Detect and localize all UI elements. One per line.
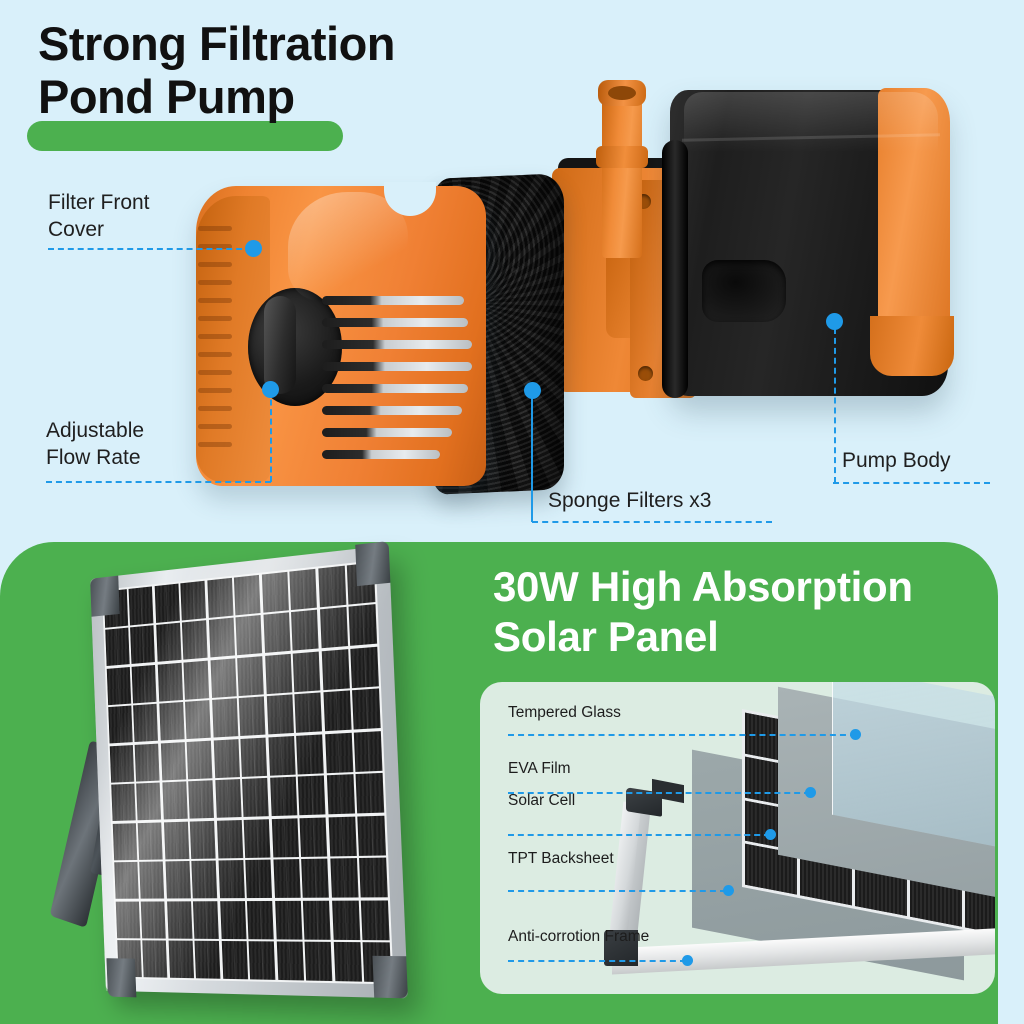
filter-cover-ridges [198, 226, 232, 466]
solar-cell [135, 743, 160, 781]
solar-cell [218, 860, 244, 898]
solar-cell [220, 901, 246, 939]
label-tpt-backsheet: TPT Backsheet [508, 850, 614, 868]
solar-cell [270, 777, 297, 816]
label-pump-body: Pump Body [842, 448, 951, 475]
label-filter-front-cover: Filter Front Cover [48, 190, 150, 244]
solar-cell [289, 569, 317, 610]
solar-cell [162, 782, 187, 820]
solar-cell [137, 783, 162, 821]
frame-corner-bottom-left [106, 958, 136, 997]
solar-cell [300, 817, 328, 856]
solar-cell [236, 615, 263, 655]
solar-cell-grid [102, 560, 394, 984]
marker-sponge-filters [524, 382, 541, 399]
solar-cell [113, 823, 138, 860]
solar-cell [332, 900, 360, 939]
solar-cell [140, 862, 165, 899]
solar-cell [276, 941, 303, 980]
solar-cell [268, 736, 295, 776]
solar-cell [164, 821, 189, 859]
frame-corner-top-left [90, 576, 120, 617]
solar-cell [305, 942, 333, 981]
solar-cell [210, 658, 236, 698]
marker-eva-film [805, 787, 816, 798]
solar-cell [234, 575, 261, 615]
solar-cell [133, 704, 158, 742]
headline-highlight-bar [27, 121, 343, 151]
solar-cell [167, 901, 192, 938]
leader-sponge-filters-h [532, 521, 772, 523]
solar-cell [116, 901, 141, 938]
solar-cell [321, 649, 349, 690]
pump-body-part [552, 84, 972, 414]
marker-adjustable-flow-rate [262, 381, 279, 398]
solar-panel-frame [90, 545, 408, 998]
solar-cell [303, 900, 331, 939]
label-anti-corrosion-frame: Anti-corrotion Frame [508, 928, 649, 946]
solar-panel-product-image [63, 562, 409, 1002]
solar-cell [242, 778, 269, 817]
pump-orange-bottom-band [870, 316, 954, 376]
solar-cell [129, 586, 154, 625]
solar-cell [161, 742, 186, 780]
solar-cell [239, 697, 266, 737]
solar-cell [275, 900, 302, 939]
solar-section-title: 30W High Absorption Solar Panel [493, 562, 913, 661]
solar-cell [187, 740, 213, 779]
solar-cell [111, 784, 135, 821]
solar-cell [352, 689, 381, 730]
solar-cell [262, 572, 289, 613]
solar-cell [267, 695, 294, 735]
solar-cell [293, 651, 321, 692]
solar-cell [188, 780, 214, 818]
solar-cell [296, 734, 324, 774]
label-adjustable-flow-rate: Adjustable Flow Rate [46, 418, 144, 472]
leader-anti-corrosion-frame [508, 960, 686, 962]
flow-dial-knob [264, 296, 296, 394]
solar-cell [265, 654, 292, 694]
solar-cell [181, 581, 207, 621]
solar-cell [105, 628, 129, 666]
leader-pump-body-v [834, 328, 836, 483]
solar-cell [357, 815, 386, 855]
solar-cell [159, 702, 184, 741]
leader-tempered-glass [508, 734, 856, 736]
label-eva-film: EVA Film [508, 760, 571, 778]
leader-tpt-backsheet [508, 890, 726, 892]
solar-cell [212, 699, 238, 738]
solar-cell [263, 613, 290, 654]
marker-anti-corrosion-frame [682, 955, 693, 966]
frame-corner-bottom-right [372, 956, 407, 999]
solar-cell [241, 737, 268, 776]
solar-cell [130, 626, 155, 665]
solar-cell [184, 660, 210, 699]
marker-tempered-glass [850, 729, 861, 740]
solar-cell [209, 618, 235, 658]
solar-cell [247, 901, 274, 939]
solar-cell [155, 584, 180, 623]
solar-cell [271, 818, 298, 857]
solar-cell [295, 693, 323, 733]
solar-cell [323, 691, 351, 732]
solar-cell [165, 861, 190, 898]
frame-corner-top-right [355, 541, 390, 586]
solar-cell [325, 733, 353, 773]
solar-cell [141, 901, 166, 938]
page-title: Strong Filtration Pond Pump [38, 18, 395, 123]
solar-cell [190, 821, 216, 859]
solar-cell [195, 941, 221, 979]
solar-cell [108, 706, 132, 744]
solar-cell [249, 941, 276, 980]
leader-adjustable-flow-rate-h [46, 481, 271, 483]
leader-adjustable-flow-rate-v [270, 390, 272, 482]
pump-housing-rim [662, 140, 688, 398]
label-tempered-glass: Tempered Glass [508, 704, 621, 722]
solar-cell [207, 578, 233, 618]
marker-pump-body [826, 313, 843, 330]
solar-cell [318, 566, 346, 608]
marker-solar-cell [765, 829, 776, 840]
solar-cell [156, 623, 181, 662]
marker-filter-front-cover [245, 240, 262, 257]
solar-cell [361, 900, 390, 940]
solar-cell [193, 901, 219, 939]
solar-cell [143, 940, 168, 977]
solar-cell [244, 819, 271, 858]
pump-outlet-spout [602, 82, 642, 258]
solar-cell [182, 621, 208, 660]
solar-cell [222, 941, 248, 979]
marker-tpt-backsheet [723, 885, 734, 896]
solar-cell [326, 774, 354, 814]
solar-cell [333, 942, 361, 982]
solar-cell [328, 816, 356, 856]
solar-cell [349, 605, 378, 647]
solar-cell [217, 820, 243, 858]
solar-cell [356, 773, 385, 813]
solar-cell [192, 861, 218, 899]
solar-cell [138, 822, 163, 859]
pump-spout-collar [596, 146, 648, 168]
pump-spout-opening [608, 86, 636, 100]
solar-cell [168, 941, 193, 979]
leader-solar-cell [508, 834, 770, 836]
pond-pump-section: Strong Filtration Pond Pump [0, 0, 1024, 548]
solar-cell [359, 858, 388, 898]
solar-cell [132, 665, 157, 703]
leader-pump-body-h [833, 482, 990, 484]
solar-cell [215, 779, 241, 818]
leader-filter-front-cover [48, 248, 252, 250]
solar-cell [354, 731, 383, 772]
solar-cell [330, 858, 358, 898]
solar-cell [185, 700, 211, 739]
solar-cell [350, 647, 379, 688]
solar-cell [291, 610, 319, 651]
leader-sponge-filters-v [531, 396, 533, 522]
filter-cover-vents [322, 296, 472, 476]
solar-cell [298, 776, 326, 816]
label-sponge-filters: Sponge Filters x3 [548, 488, 711, 515]
pump-housing-grip-recess [702, 260, 786, 322]
solar-cell [237, 656, 264, 696]
solar-cell [107, 667, 131, 705]
solar-layers-diagram: Tempered Glass EVA Film Solar Cell TPT B… [480, 682, 995, 994]
solar-cell [114, 862, 139, 899]
product-infographic: Strong Filtration Pond Pump [0, 0, 1024, 1024]
solar-cell [158, 663, 183, 702]
solar-cell [110, 745, 134, 783]
filter-front-cover-part [196, 186, 486, 486]
pump-housing-highlight [684, 92, 938, 152]
solar-cell [320, 607, 348, 648]
solar-cell [214, 739, 240, 778]
solar-cell [246, 860, 273, 898]
solar-cell [273, 859, 300, 898]
label-solar-cell: Solar Cell [508, 792, 575, 810]
solar-cell [301, 859, 329, 898]
